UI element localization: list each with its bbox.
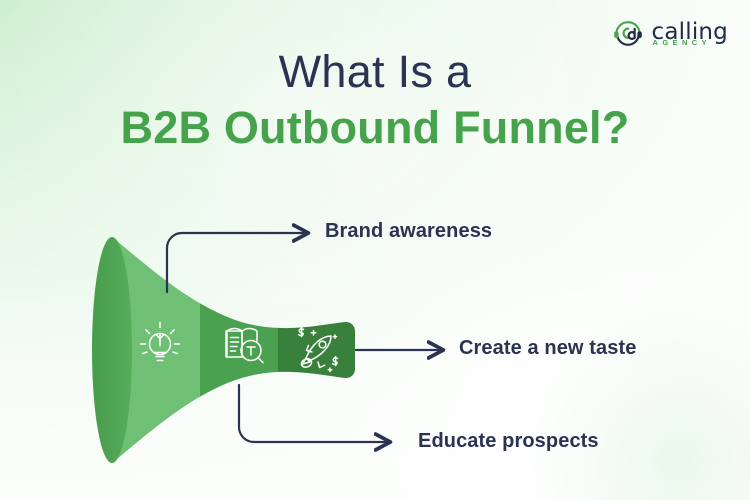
funnel-diagram <box>0 0 750 500</box>
outcome-label-create-a-new-taste: Create a new taste <box>459 337 636 360</box>
outcome-label-educate-prospects: Educate prospects <box>418 430 599 453</box>
infographic-canvas: calling AGENCY What Is a B2B Outbound Fu… <box>0 0 750 500</box>
connector-brand-awareness <box>167 233 308 292</box>
funnel-mouth <box>92 237 132 463</box>
outcome-label-brand-awareness: Brand awareness <box>325 220 492 243</box>
connector-educate-prospects <box>239 385 390 442</box>
